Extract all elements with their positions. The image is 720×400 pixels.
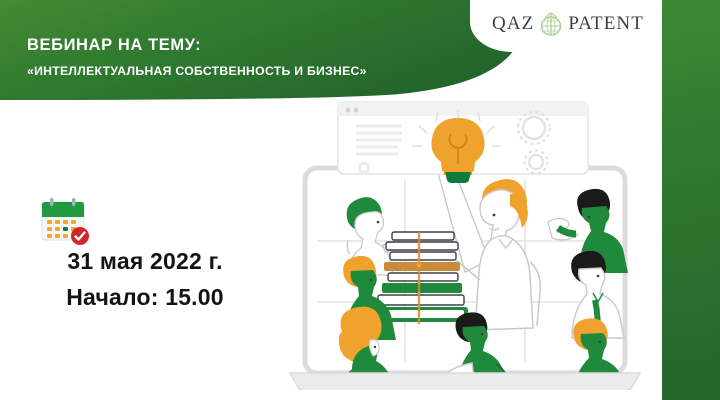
logo-word-patent: PATENT xyxy=(568,13,644,35)
page-subtitle: «ИНТЕЛЛЕКТУАЛЬНАЯ СОБСТВЕННОСТЬ И БИЗНЕС… xyxy=(27,64,367,78)
poster-canvas: ВЕБИНАР НА ТЕМУ: «ИНТЕЛЛЕКТУАЛЬНАЯ СОБСТ… xyxy=(0,0,720,400)
brand-logo: QAZ PATENT xyxy=(492,11,644,37)
right-accent-bar xyxy=(662,0,720,400)
calendar-check-icon xyxy=(38,198,92,248)
laptop-base xyxy=(290,373,640,390)
globe-emblem-icon xyxy=(538,11,564,37)
page-title: ВЕБИНАР НА ТЕМУ: xyxy=(27,36,201,55)
window-dot-2 xyxy=(354,108,359,113)
event-date: 31 мая 2022 г. xyxy=(0,248,290,275)
event-start-time: Начало: 15.00 xyxy=(0,284,290,311)
window-dot-1 xyxy=(346,108,351,113)
idea-browser-window xyxy=(338,102,588,183)
header-text-block: ВЕБИНАР НА ТЕМУ: «ИНТЕЛЛЕКТУАЛЬНАЯ СОБСТ… xyxy=(0,0,470,108)
webinar-laptop-illustration xyxy=(286,100,670,390)
logo-word-qaz: QAZ xyxy=(492,13,534,35)
